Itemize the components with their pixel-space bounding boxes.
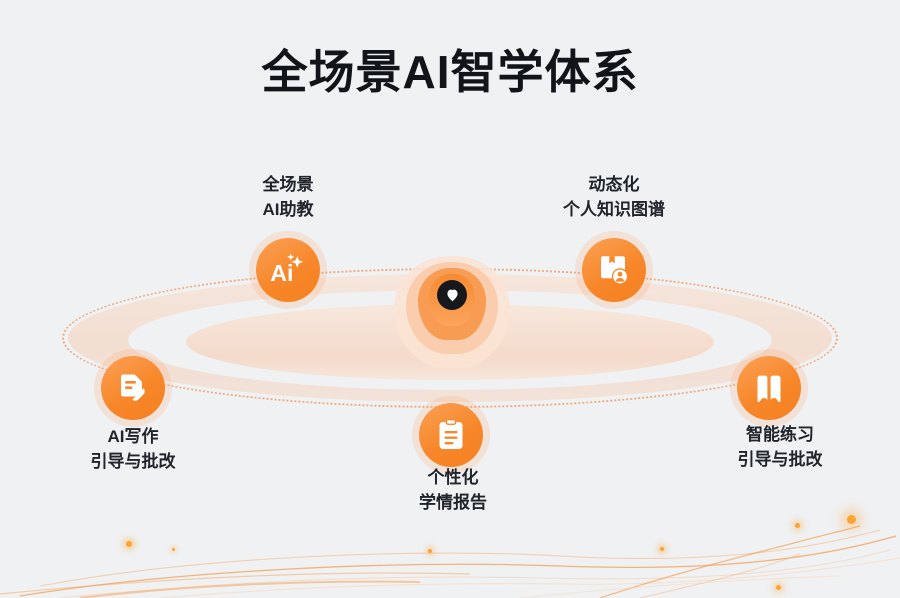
label-line-1: 个性化	[373, 465, 533, 490]
node-learning-report[interactable]	[419, 403, 483, 467]
label-learning-report: 个性化 学情报告	[373, 465, 533, 515]
node-knowledge-graph[interactable]	[582, 238, 646, 302]
label-line-2: 引导与批改	[690, 447, 870, 472]
node-smart-practice[interactable]	[737, 356, 801, 420]
infographic-canvas: 全场景AI智学体系 Ai 全场景 AI助教	[0, 0, 900, 598]
book-person-icon	[597, 253, 631, 287]
label-line-1: 动态化	[524, 172, 704, 197]
node-ai-writing[interactable]	[101, 356, 165, 420]
page-title: 全场景AI智学体系	[0, 44, 900, 100]
glow-dot	[660, 547, 664, 551]
label-ai-writing: AI写作 引导与批改	[43, 424, 223, 474]
label-line-1: 全场景	[208, 172, 368, 197]
svg-text:Ai: Ai	[270, 260, 293, 286]
document-pen-icon	[116, 371, 150, 405]
ai-sparkle-icon: Ai	[269, 253, 307, 287]
glow-dot	[776, 585, 781, 590]
glow-dot	[795, 523, 800, 528]
label-knowledge-graph: 动态化 个人知识图谱	[524, 172, 704, 222]
label-line-2: 个人知识图谱	[524, 197, 704, 222]
node-ai-assistant[interactable]: Ai	[256, 238, 320, 302]
label-line-1: AI写作	[43, 424, 223, 449]
label-smart-practice: 智能练习 引导与批改	[690, 422, 870, 472]
label-line-2: AI助教	[208, 197, 368, 222]
glow-dot	[126, 541, 132, 547]
label-line-2: 引导与批改	[43, 449, 223, 474]
label-ai-assistant: 全场景 AI助教	[208, 172, 368, 222]
label-line-2: 学情报告	[373, 490, 533, 515]
glow-dot	[847, 515, 856, 524]
glow-dot	[172, 548, 175, 551]
center-pin[interactable]	[394, 252, 510, 368]
heart-pin-icon	[437, 280, 467, 310]
clipboard-icon	[436, 418, 466, 452]
glow-dot	[428, 549, 432, 553]
open-book-icon	[752, 372, 786, 404]
label-line-1: 智能练习	[690, 422, 870, 447]
